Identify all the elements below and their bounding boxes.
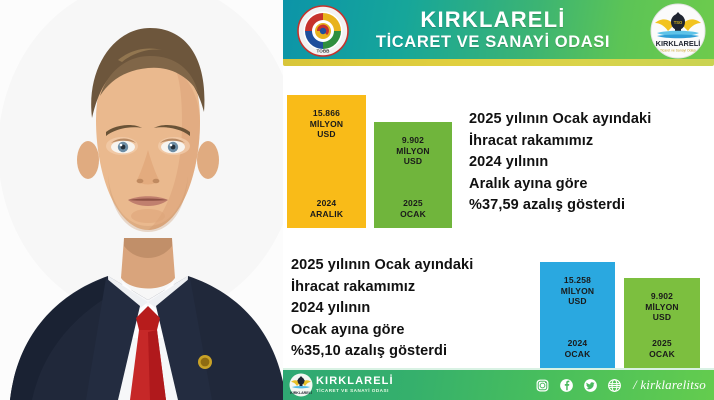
page-title: KIRKLARELİ — [343, 7, 643, 32]
bar-category-label: 2024 OCAK — [565, 338, 591, 368]
bar-value-label: 9.902 MİLYON USD — [645, 278, 678, 323]
twitter-icon[interactable] — [583, 378, 598, 393]
page-subtitle: TİCARET VE SANAYİ ODASI — [343, 32, 643, 52]
footer-chamber-logo-icon: KIRKLARELİ — [289, 373, 313, 397]
footer-brand-subtitle: TİCARET VE SANAYİ ODASI — [316, 387, 394, 394]
bar-value-label: 15.258 MİLYON USD — [561, 262, 594, 307]
chart2-annotation: 2025 yılının Ocak ayındaki İhracat rakam… — [291, 255, 541, 363]
footer-banner: KIRKLARELİ KIRKLARELİ TİCARET VE SANAYİ … — [283, 370, 714, 400]
svg-text:TSO: TSO — [674, 20, 683, 25]
portrait-photo — [0, 0, 290, 400]
facebook-icon[interactable] — [559, 378, 574, 393]
charts-region: 15.866 MİLYON USD 2024 ARALIK 9.902 MİLY… — [283, 66, 714, 370]
bar-chart2-2025-ocak: 9.902 MİLYON USD 2025 OCAK — [624, 278, 700, 368]
svg-text:KIRKLARELİ: KIRKLARELİ — [290, 391, 312, 395]
header-titles: KIRKLARELİ TİCARET VE SANAYİ ODASI — [343, 7, 643, 52]
bar-category-label: 2024 ARALIK — [310, 198, 343, 228]
infographic-canvas: TOBB KIRKLARELİ TİCARET VE SANAYİ ODASI … — [0, 0, 714, 400]
globe-icon[interactable] — [607, 378, 622, 393]
instagram-icon[interactable] — [535, 378, 550, 393]
header-accent-stripe — [283, 59, 714, 66]
header-banner: TOBB KIRKLARELİ TİCARET VE SANAYİ ODASI … — [283, 0, 714, 62]
bar-value-label: 9.902 MİLYON USD — [396, 122, 429, 167]
social-handle[interactable]: / kirklarelitso — [631, 377, 706, 393]
tobb-logo-text: TOBB — [317, 49, 331, 54]
portrait-illustration — [0, 0, 290, 400]
kirklareli-chamber-logo: TSO KIRKLARELİ Ticaret ve Sanayi Odası — [650, 3, 706, 59]
bar-chart2-2024-ocak: 15.258 MİLYON USD 2024 OCAK — [540, 262, 615, 368]
bar-category-label: 2025 OCAK — [649, 338, 675, 368]
social-links: / kirklarelitso — [535, 370, 706, 400]
footer-brand-name: KIRKLARELİ — [316, 375, 394, 387]
bar-chart1-2025-ocak: 9.902 MİLYON USD 2025 OCAK — [374, 122, 452, 228]
chamber-logo-subtext: Ticaret ve Sanayi Odası — [660, 49, 696, 53]
bar-chart1-2024-aralik: 15.866 MİLYON USD 2024 ARALIK — [287, 95, 366, 228]
bar-value-label: 15.866 MİLYON USD — [310, 95, 343, 140]
chart1-annotation: 2025 yılının Ocak ayındaki İhracat rakam… — [469, 109, 714, 217]
bar-category-label: 2025 OCAK — [400, 198, 426, 228]
footer-brand: KIRKLARELİ TİCARET VE SANAYİ ODASI — [316, 375, 394, 394]
chamber-logo-text: KIRKLARELİ — [656, 39, 701, 48]
tobb-logo: TOBB — [297, 5, 349, 57]
